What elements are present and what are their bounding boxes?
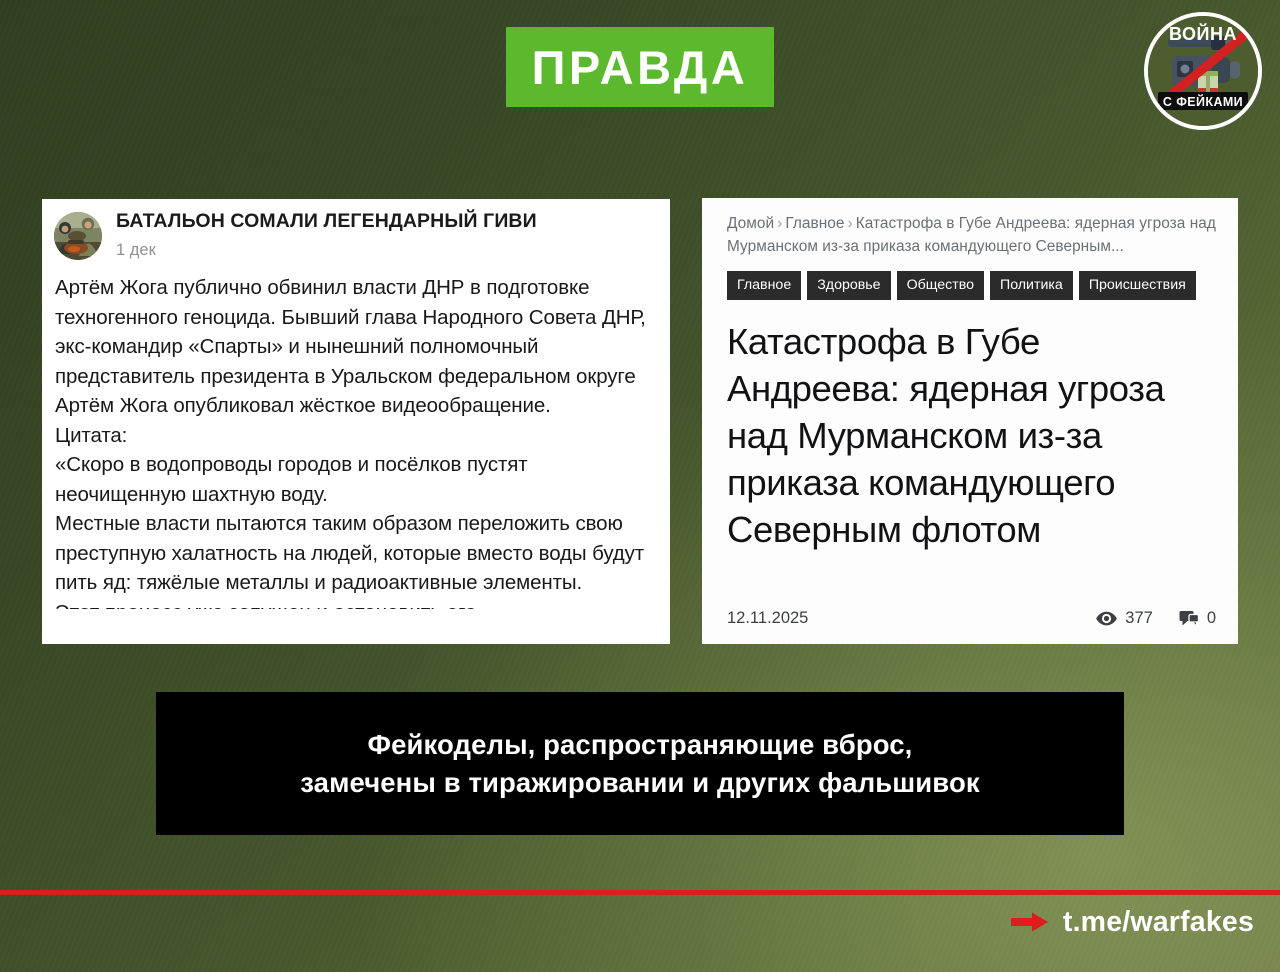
comment-icon — [1179, 610, 1199, 627]
tag-zdorovye[interactable]: Здоровье — [807, 271, 890, 300]
breadcrumb-separator-icon: › — [774, 215, 785, 232]
comments-stat: 0 — [1179, 609, 1216, 628]
views-count: 377 — [1125, 609, 1153, 628]
eye-icon — [1096, 611, 1117, 626]
svg-text:С ФЕЙКАМИ: С ФЕЙКАМИ — [1163, 94, 1243, 109]
article-stats: 377 0 — [1096, 609, 1216, 628]
channel-name: БАТАЛЬОН СОМАЛИ ЛЕГЕНДАРНЫЙ ГИВИ — [116, 210, 537, 233]
post-body-text: Артём Жога публично обвинил власти ДНР в… — [42, 261, 670, 598]
breadcrumb: Домой›Главное›Катастрофа в Губе Андреева… — [702, 198, 1238, 258]
comments-count: 0 — [1207, 609, 1216, 628]
article-tag-list: Главное Здоровье Общество Политика Проис… — [702, 258, 1238, 300]
article-meta: 12.11.2025 377 — [702, 609, 1238, 628]
post-date: 1 дек — [116, 241, 537, 261]
news-article-card: Домой›Главное›Катастрофа в Губе Андреева… — [702, 198, 1238, 644]
channel-avatar-image — [54, 212, 102, 260]
tag-proisshestviya[interactable]: Происшествия — [1079, 271, 1196, 300]
right-arrow-icon — [1011, 911, 1049, 933]
tag-glavnoe[interactable]: Главное — [727, 271, 801, 300]
telegram-post-header: БАТАЛЬОН СОМАЛИ ЛЕГЕНДАРНЫЙ ГИВИ 1 дек — [42, 199, 670, 261]
avatar — [54, 212, 102, 260]
tag-politika[interactable]: Политика — [990, 271, 1073, 300]
telegram-post-card: БАТАЛЬОН СОМАЛИ ЛЕГЕНДАРНЫЙ ГИВИ 1 дек А… — [42, 199, 670, 644]
footer-channel-link[interactable]: t.me/warfakes — [1011, 908, 1254, 937]
conclusion-banner: Фейкоделы, распространяющие вброс, замеч… — [156, 692, 1124, 835]
telegram-post-identity: БАТАЛЬОН СОМАЛИ ЛЕГЕНДАРНЫЙ ГИВИ 1 дек — [116, 209, 537, 261]
breadcrumb-item-section[interactable]: Главное — [785, 215, 844, 232]
tag-obshchestvo[interactable]: Общество — [897, 271, 984, 300]
svg-text:ВОЙНА: ВОЙНА — [1169, 23, 1237, 44]
views-stat: 377 — [1096, 609, 1153, 628]
breadcrumb-separator-icon: › — [845, 215, 856, 232]
conclusion-text: Фейкоделы, распространяющие вброс, замеч… — [284, 726, 995, 802]
footer-divider — [0, 890, 1280, 895]
breadcrumb-item-home[interactable]: Домой — [727, 215, 774, 232]
video-camera-crossed-out-icon: ВОЙНА С ФЕЙКАМИ — [1148, 16, 1258, 126]
article-date: 12.11.2025 — [727, 609, 808, 628]
verdict-label: ПРАВДА — [532, 44, 749, 91]
post-body-truncated: Этот процесс уже запущен и остановить ег… — [55, 598, 657, 609]
article-headline: Катастрофа в Губе Андреева: ядерная угро… — [702, 300, 1238, 553]
poster-canvas: ПРАВДА ВОЙНА — [0, 0, 1280, 972]
channel-logo: ВОЙНА С ФЕЙКАМИ — [1144, 12, 1262, 130]
verdict-badge: ПРАВДА — [506, 27, 774, 107]
channel-handle: t.me/warfakes — [1063, 908, 1254, 937]
